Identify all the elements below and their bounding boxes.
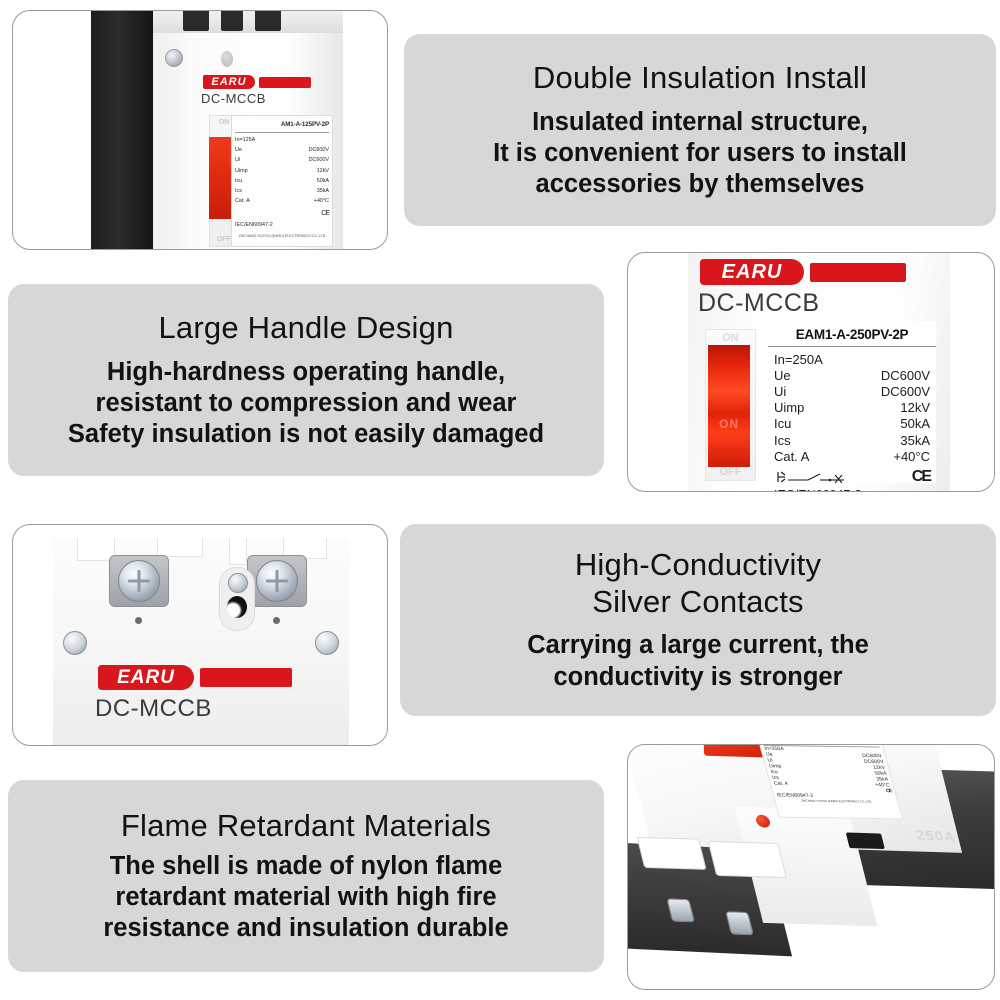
spec-value-ue: DC600V [309, 145, 329, 155]
terminal-screw-left [118, 560, 160, 602]
earu-logo-badge: EARU [203, 75, 255, 89]
spec-label-cat: Cat. A [235, 196, 250, 206]
din-rail-clip-left [637, 837, 707, 870]
feature-body-line-3: resistance and insulation durable [103, 913, 508, 944]
mccb-side-slot [846, 832, 885, 849]
spec-model-number: EAM1-A-250PV-2P [768, 321, 936, 347]
spec-rated-current: In=125A [235, 135, 329, 145]
feature-body: The shell is made of nylon flame retarda… [103, 851, 508, 944]
feature-body-line-3: accessories by themselves [493, 169, 907, 200]
earu-logo: EARU [700, 259, 906, 285]
product-line-label: DC-MCCB [698, 289, 820, 318]
switch-off-label: OFF [217, 236, 231, 243]
product-photo-double-insulation: EARU DC-MCCB ON OFF AM1-A-125PV-2P In=12… [12, 10, 388, 250]
spec-value-ue: DC600V [881, 368, 930, 384]
product-photo-silver-contacts: EARU DC-MCCB [12, 524, 388, 746]
spec-rated-current: In=250A [774, 352, 930, 368]
din-rail-clip-right [708, 841, 787, 878]
mccb-front-view: EARU DC-MCCB ON OFF AM1-A-125PV-2P In=12… [13, 11, 387, 249]
feature-panel-double-insulation: Double Insulation Install Insulated inte… [404, 34, 996, 226]
spec-value-cat: +40°C [314, 196, 329, 206]
spec-value-ui: DC600V [881, 384, 930, 400]
earu-logo-bar [810, 263, 906, 282]
ce-mark-icon: CE [235, 207, 329, 220]
spec-label-icu: Icu [774, 416, 791, 432]
product-photo-large-handle: EARU DC-MCCB ON OFF ON EAM1-A-250PV-2P I… [627, 252, 995, 492]
mccb-black-side-cover [91, 10, 153, 250]
feature-title: Large Handle Design [158, 310, 453, 347]
terminal-screw-right [256, 560, 298, 602]
feature-body-line-1: Carrying a large current, the [527, 630, 869, 661]
spec-value-uimp: 12kV [900, 400, 930, 416]
terminal-right [247, 555, 307, 607]
terminal-vent-dot-right [273, 617, 280, 624]
spec-standard: IEC/EN60947-2 [235, 220, 329, 230]
breaker-schematic-icon [774, 469, 864, 485]
feature-body-line-2: retardant material with high fire [103, 882, 508, 913]
mccb-cover-screw [165, 49, 183, 67]
earu-logo-bar [259, 77, 311, 88]
spec-label-cat: Cat. A [773, 781, 789, 787]
mccb-unit-3d: DC-MCCB EARU EAM1-A-250PV-2P In=250A UeD… [628, 745, 994, 973]
spec-standard: IEC/EN60947-2 [774, 488, 930, 492]
terminal-wire-hole [227, 596, 247, 618]
earu-logo: EARU [203, 75, 311, 89]
feature-panel-large-handle: Large Handle Design High-hardness operat… [8, 284, 604, 476]
feature-body-line-1: High-hardness operating handle, [68, 357, 544, 388]
mccb-mounting-hole [221, 51, 233, 67]
spec-label-ui: Ui [774, 384, 786, 400]
mccb-angled-view: DC-MCCB EARU EAM1-A-250PV-2P In=250A UeD… [628, 745, 994, 989]
product-line-label: DC-MCCB [95, 695, 212, 723]
feature-body-line-2: conductivity is stronger [527, 662, 869, 693]
spec-value-uimp: 12kV [317, 166, 329, 176]
spec-value-ui: DC600V [309, 155, 329, 165]
switch-on-label: ON [706, 332, 755, 344]
feature-body: Carrying a large current, the conductivi… [527, 630, 869, 692]
spec-symbol-row: CE [774, 467, 930, 487]
spec-label-ue: Ue [235, 145, 242, 155]
spec-value-cat: +40°C [893, 449, 930, 465]
earu-logo-badge: EARU [700, 259, 804, 285]
mccb-top-slot-mid [221, 10, 243, 31]
switch-on-label: ON [219, 119, 230, 126]
product-line-label: DC-MCCB [201, 91, 266, 106]
feature-title: Double Insulation Install [533, 60, 867, 97]
spec-value-icu: 50kA [317, 176, 329, 186]
feature-title-line-1: High-Conductivity [575, 547, 821, 584]
spec-label-uimp: Uimp [774, 400, 804, 416]
spec-label-icu: Icu [235, 176, 242, 186]
terminal-left [109, 555, 169, 607]
mccb-spec-label: EAM1-A-250PV-2P In=250A UeDC600V UiDC600… [768, 321, 936, 483]
earu-logo-badge: EARU [98, 665, 194, 690]
mccb-spec-label: EAM1-A-250PV-2P In=250A UeDC600V UiDC600… [757, 745, 903, 819]
spec-label-ue: Ue [774, 368, 791, 384]
spec-value-icu: 50kA [900, 416, 930, 432]
feature-body-line-2: It is convenient for users to install [493, 138, 907, 169]
feature-body-line-1: The shell is made of nylon flame [103, 851, 508, 882]
ce-mark-icon: CE [912, 467, 930, 487]
terminal-center-recess [219, 567, 255, 631]
spec-label-ics: Ics [235, 186, 242, 196]
switch-off-label: OFF [706, 466, 755, 478]
spec-label-cat: Cat. A [774, 449, 809, 465]
mccb-top-slot-right [255, 10, 281, 31]
feature-panel-silver-contacts: High-Conductivity Silver Contacts Carryi… [400, 524, 996, 716]
terminal-notch-center [229, 538, 247, 565]
mccb-top-slot-left [183, 10, 209, 31]
terminal-screw-center [228, 573, 248, 593]
feature-panel-flame-retardant: Flame Retardant Materials The shell is m… [8, 780, 604, 972]
spec-label-ics: Ics [774, 433, 791, 449]
feature-body-line-3: Safety insulation is not easily damaged [68, 419, 544, 450]
feature-body-line-2: resistant to compression and wear [68, 388, 544, 419]
feature-body-line-1: Insulated internal structure, [493, 107, 907, 138]
earu-logo-bar [200, 668, 292, 687]
housing-screw-bottom-left [63, 631, 87, 655]
feature-title-line-2: Silver Contacts [592, 584, 803, 621]
mccb-top-rail [153, 10, 343, 33]
spec-company-name: ZHEJIANG OUYOU (EARU) ELECTRONICS CO.,LT… [235, 233, 329, 240]
amp-rating-marking: 250A [915, 827, 957, 845]
spec-value-ics: 35kA [900, 433, 930, 449]
handle-on-marking: ON [708, 417, 750, 431]
feature-body: Insulated internal structure, It is conv… [493, 107, 907, 200]
terminal-vent-dot-left [135, 617, 142, 624]
spec-value-ics: 35kA [317, 186, 329, 196]
spec-label-uimp: Uimp [235, 166, 248, 176]
spec-label-ui: Ui [235, 155, 240, 165]
earu-logo: EARU [98, 665, 292, 690]
spec-model-number: AM1-A-125PV-2P [235, 119, 329, 133]
product-photo-flame-retardant: DC-MCCB EARU EAM1-A-250PV-2P In=250A UeD… [627, 744, 995, 990]
feature-body: High-hardness operating handle, resistan… [68, 357, 544, 450]
mccb-spec-label: AM1-A-125PV-2P In=125A UeDC600V UiDC600V… [231, 115, 333, 247]
spec-company-name: ZHEJIANG OUYOU (EARU) ELECTRONICS CO.,LT… [778, 798, 895, 804]
feature-title: Flame Retardant Materials [121, 808, 491, 845]
mccb-handle: ON [708, 345, 750, 467]
housing-screw-bottom-right [315, 631, 339, 655]
